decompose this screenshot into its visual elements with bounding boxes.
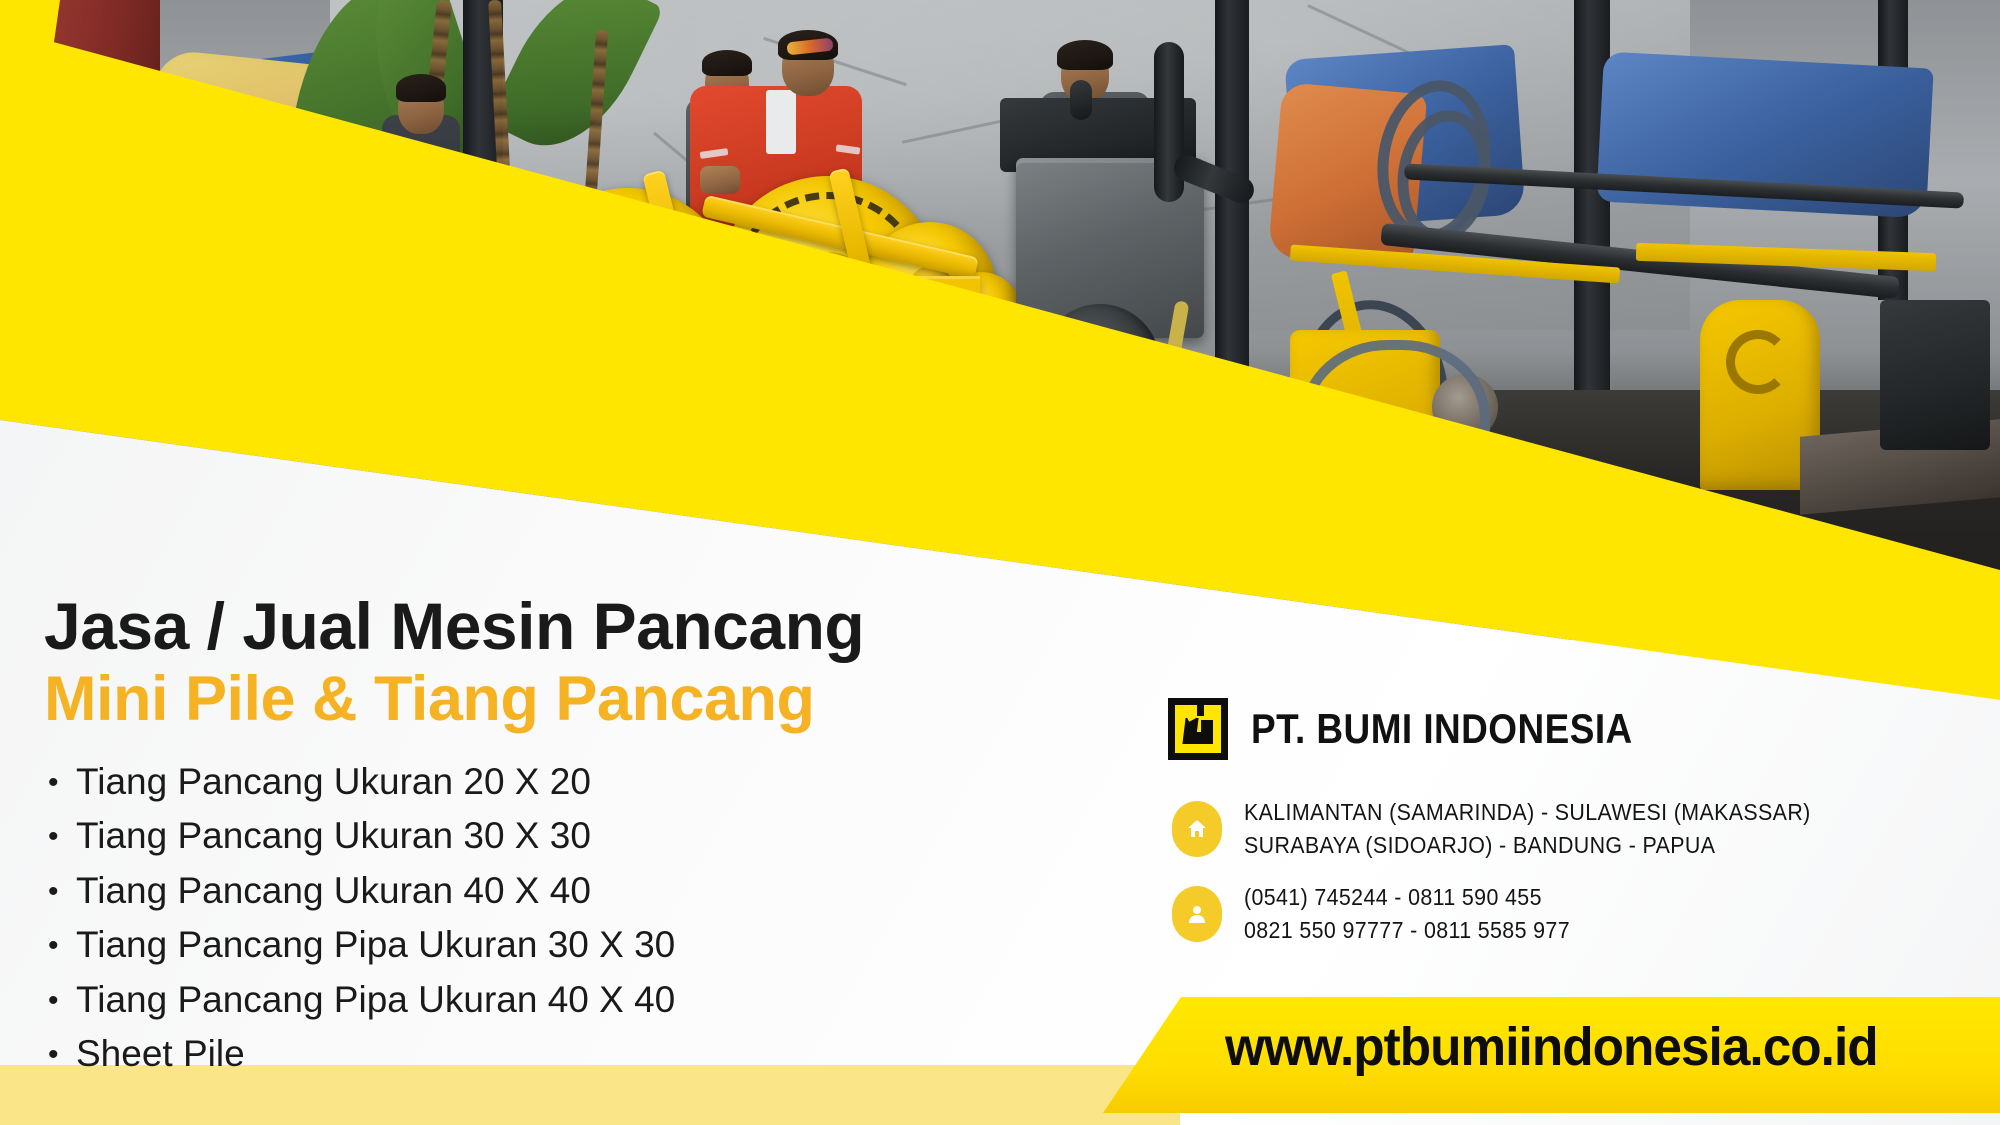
contact-block: (0541) 745244 - 0811 590 455 0821 550 97…: [1172, 881, 1595, 946]
company-identity: PT. BUMI INDONESIA: [1168, 698, 1685, 760]
person-icon: [1172, 886, 1222, 942]
address-block: KALIMANTAN (SAMARINDA) - SULAWESI (MAKAS…: [1172, 796, 1853, 861]
address-line-2: SURABAYA (SIDOARJO) - BANDUNG - PAPUA: [1244, 829, 1811, 862]
worker-undershirt: [766, 90, 796, 154]
engine-filler-cap: [1070, 80, 1092, 120]
address-lines: KALIMANTAN (SAMARINDA) - SULAWESI (MAKAS…: [1244, 796, 1811, 861]
address-line-1: KALIMANTAN (SAMARINDA) - SULAWESI (MAKAS…: [1244, 796, 1811, 829]
list-item: Tiang Pancang Ukuran 30 X 30: [48, 809, 675, 863]
square-monogram-icon: [1168, 698, 1228, 760]
list-item: Tiang Pancang Ukuran 20 X 20: [48, 755, 675, 809]
list-item: Sheet Pile: [48, 1027, 675, 1081]
services-list: Tiang Pancang Ukuran 20 X 20 Tiang Panca…: [48, 755, 675, 1081]
pile-cap-hook: [1726, 330, 1790, 394]
worker-hair: [1057, 40, 1113, 70]
page-title: Jasa / Jual Mesin Pancang: [44, 588, 864, 664]
worker-hand: [700, 166, 740, 194]
advertising-banner: Jasa / Jual Mesin Pancang Mini Pile & Ti…: [0, 0, 2000, 1125]
worker-hair: [702, 50, 752, 76]
list-item: Tiang Pancang Ukuran 40 X 40: [48, 864, 675, 918]
phone-line-2: 0821 550 97777 - 0811 5585 977: [1244, 914, 1570, 947]
list-item: Tiang Pancang Pipa Ukuran 30 X 30: [48, 918, 675, 972]
dark-block: [1880, 300, 1990, 450]
list-item: Tiang Pancang Pipa Ukuran 40 X 40: [48, 973, 675, 1027]
worker-hair: [396, 74, 446, 102]
website-url[interactable]: www.ptbumiindonesia.co.id: [1225, 1016, 1878, 1078]
phone-line-1: (0541) 745244 - 0811 590 455: [1244, 881, 1570, 914]
company-name: PT. BUMI INDONESIA: [1251, 705, 1633, 753]
page-subtitle: Mini Pile & Tiang Pancang: [44, 663, 814, 735]
home-icon: [1172, 801, 1222, 857]
contact-lines: (0541) 745244 - 0811 590 455 0821 550 97…: [1244, 881, 1570, 946]
